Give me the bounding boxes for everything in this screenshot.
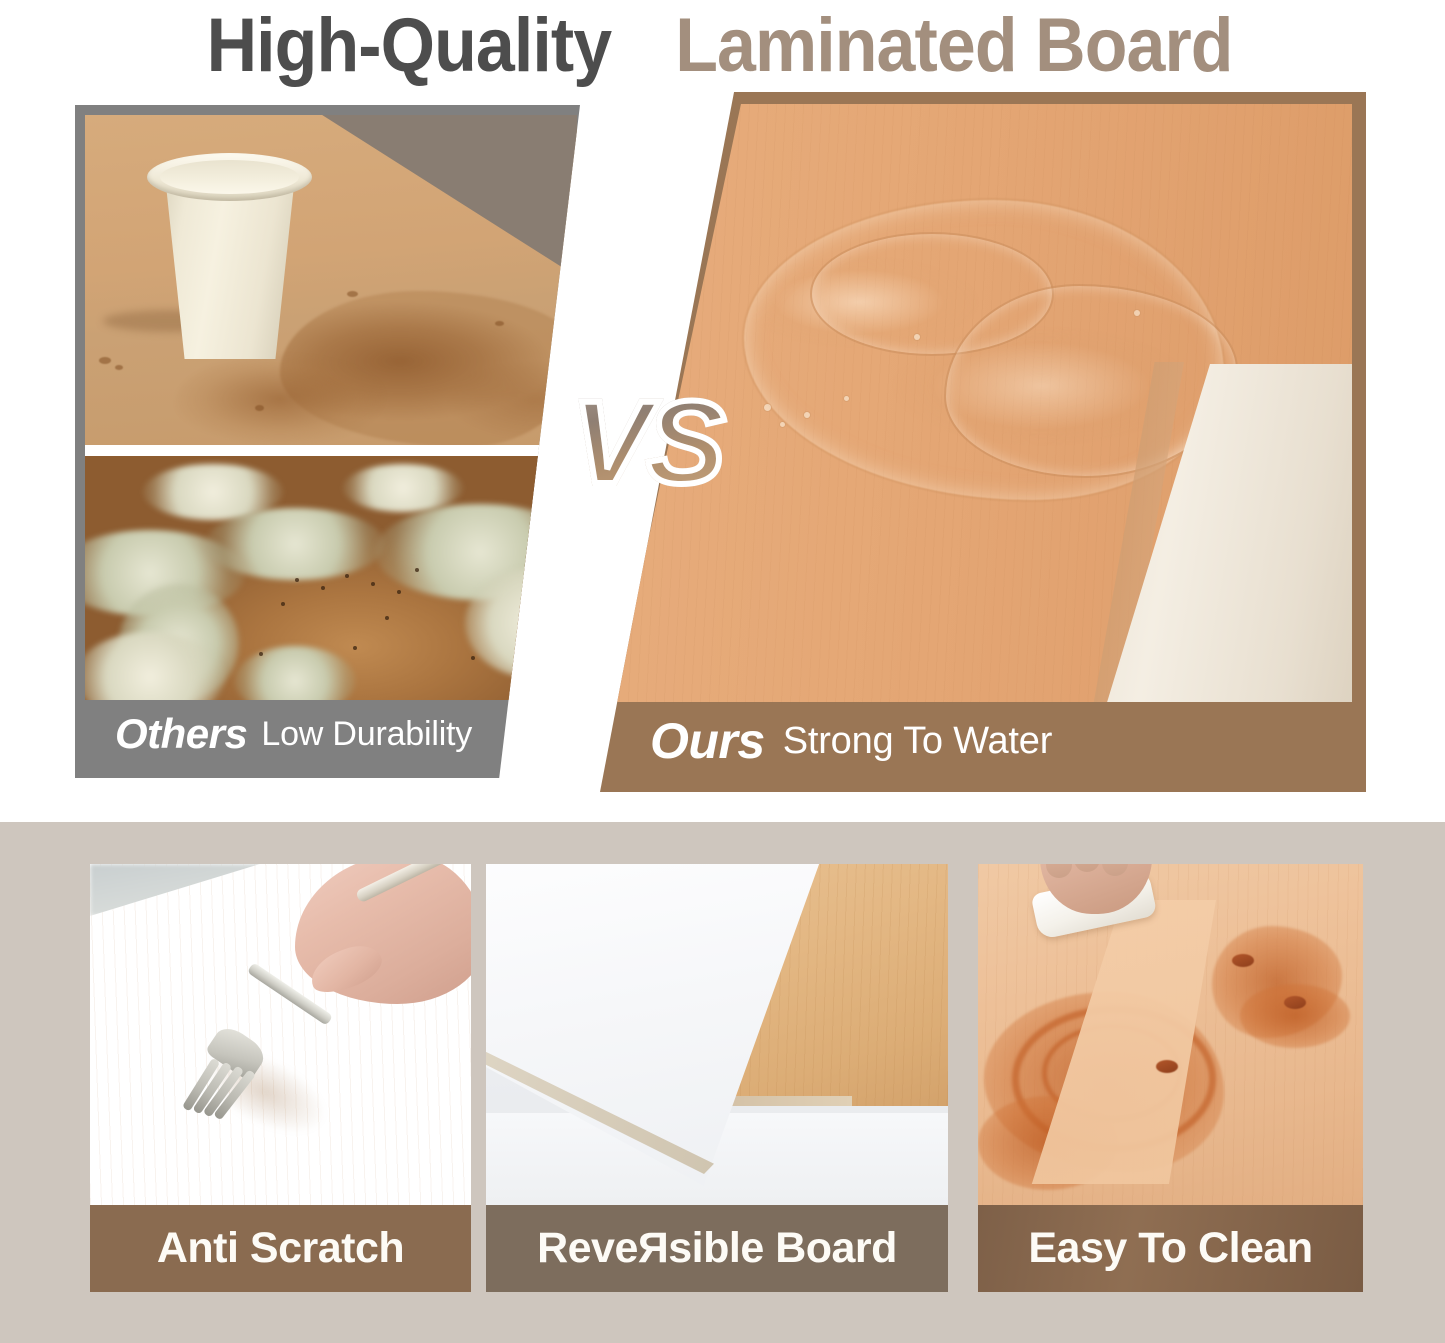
others-caption: Others Low Durability xyxy=(85,700,577,768)
mold-damage-photo xyxy=(85,456,577,700)
finger xyxy=(1102,864,1128,876)
reversible-board-photo xyxy=(486,864,948,1205)
water-droplet xyxy=(764,404,771,411)
ours-claim-label: Strong To Water xyxy=(783,720,1052,763)
photo-divider xyxy=(85,445,577,456)
comparison-section: Others Low Durability Ours Strong To Wat… xyxy=(0,92,1445,822)
mold-patch xyxy=(205,508,385,580)
droplet xyxy=(255,405,264,411)
water-resistance-photo xyxy=(614,104,1352,702)
ours-brand-label: Ours xyxy=(650,712,765,770)
droplet xyxy=(99,357,111,364)
others-claim-label: Low Durability xyxy=(261,715,472,754)
feature-card-anti-scratch: Anti Scratch xyxy=(90,864,471,1292)
others-photo-stack xyxy=(85,115,577,700)
paper-cup xyxy=(147,153,312,359)
background-wall xyxy=(319,115,577,278)
page-title-part-2: Laminated Board xyxy=(675,8,1232,84)
water-droplet xyxy=(780,422,785,427)
easy-to-clean-photo xyxy=(978,864,1363,1205)
mold-patch xyxy=(235,646,355,700)
feature-card-easy-to-clean: Easy To Clean xyxy=(978,864,1363,1292)
ours-caption: Ours Strong To Water xyxy=(614,702,1352,780)
mold-patch xyxy=(343,464,463,512)
droplet xyxy=(495,321,504,326)
sauce-stain xyxy=(1240,984,1350,1048)
water-droplet xyxy=(844,396,849,401)
water-droplet xyxy=(914,334,920,340)
cup-interior xyxy=(160,160,299,194)
others-brand-label: Others xyxy=(115,710,247,758)
page-title-part-1: High-Quality xyxy=(206,8,611,84)
droplet xyxy=(347,291,358,297)
features-section: Anti Scratch ReveЯsible Board xyxy=(0,822,1445,1343)
feature-card-reversible-board: ReveЯsible Board xyxy=(486,864,948,1292)
feature-label-anti-scratch: Anti Scratch xyxy=(90,1205,471,1292)
versus-badge: VS xyxy=(572,384,721,502)
anti-scratch-photo xyxy=(90,864,471,1205)
sauce-seed xyxy=(1156,1060,1178,1073)
mold-patch xyxy=(375,504,577,600)
sauce-seed xyxy=(1284,996,1306,1009)
others-panel: Others Low Durability xyxy=(75,105,580,778)
sauce-seed xyxy=(1232,954,1254,967)
feature-label-easy-to-clean: Easy To Clean xyxy=(978,1205,1363,1292)
water-droplet xyxy=(1134,310,1140,316)
feature-label-reversible-board: ReveЯsible Board xyxy=(486,1205,948,1292)
water-droplet xyxy=(804,412,810,418)
liquid-spill-secondary xyxy=(175,353,385,445)
droplet xyxy=(115,365,123,370)
finger xyxy=(1046,864,1072,878)
spilled-drink-photo xyxy=(85,115,577,445)
page-title: High-Quality Laminated Board xyxy=(0,0,1445,92)
finger xyxy=(1074,864,1100,872)
